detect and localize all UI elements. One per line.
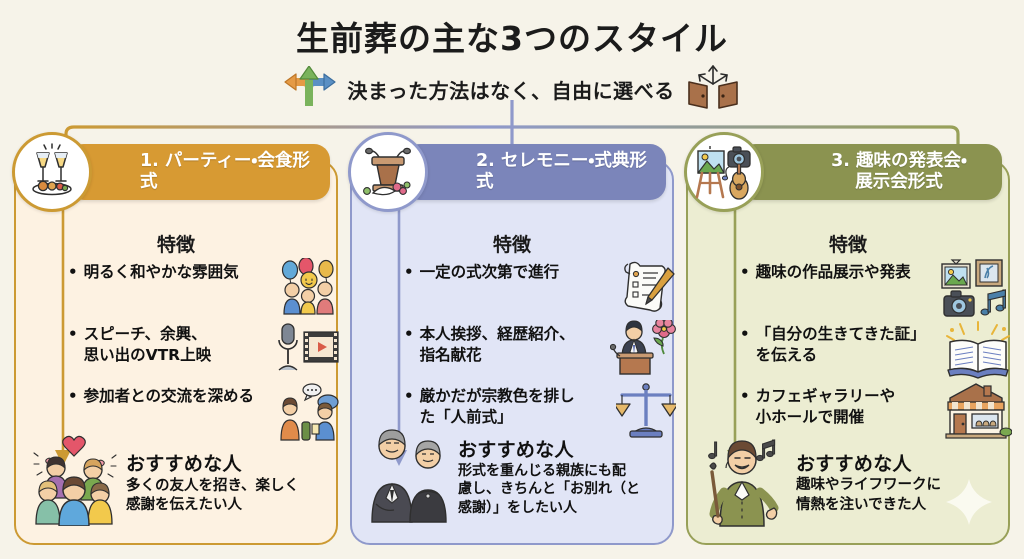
- artist-music-icon: [702, 432, 790, 532]
- recommend-heading: おすすめな人: [458, 435, 658, 462]
- easel-camera-guitar-icon: [684, 132, 764, 212]
- feature-item: • 本人挨拶、経歴紹介、 指名献花: [404, 324, 670, 386]
- card-party: 1. パーティー・会食形式: [14, 160, 338, 545]
- framed-pictures-camera-music-icon: [940, 258, 1012, 326]
- bullet-icon: •: [404, 324, 414, 344]
- card-ceremony-header: 2. セレモニー・式典形式: [404, 144, 666, 200]
- recommend-text: 多くの友人を招き、楽しく 感謝を伝えたい人: [126, 477, 322, 515]
- card-hobby-header: 3. 趣味の発表会・ 展示会形式: [740, 144, 1002, 200]
- card-party-header: 1. パーティー・会食形式: [68, 144, 330, 200]
- feature-item: • スピーチ、余興、 思い出のVTR上映: [68, 324, 334, 386]
- bullet-icon: •: [740, 324, 750, 344]
- bullet-icon: •: [68, 262, 78, 282]
- style-cards: 1. パーティー・会食形式: [0, 160, 1024, 559]
- speaker-podium-flower-icon: [610, 320, 676, 384]
- podium-flowers-icon: [348, 132, 428, 212]
- scroll-pen-icon: [618, 258, 676, 322]
- card-ceremony-recommend-body: おすすめな人 形式を重んじる親族にも配 慮し、きちんと「お別れ（と 感謝）」をし…: [458, 435, 658, 517]
- card-ceremony-recommend: おすすめな人 形式を重んじる親族にも配 慮し、きちんと「お別れ（と 感謝）」をし…: [360, 417, 664, 535]
- bullet-icon: •: [740, 262, 750, 282]
- bullet-icon: •: [68, 386, 78, 406]
- card-party-features-heading: 特徴: [16, 230, 336, 257]
- card-party-title: 1. パーティー・会食形式: [140, 151, 322, 192]
- infographic-page: 生前葬の主な3つのスタイル 決まった方法はなく、自由に選べる: [0, 0, 1024, 559]
- card-hobby-feature-list: • 趣味の作品展示や発表: [740, 262, 1006, 448]
- card-hobby-features-heading: 特徴: [688, 230, 1008, 257]
- card-ceremony: 2. セレモニー・式典形式: [350, 160, 674, 545]
- card-hobby-title: 3. 趣味の発表会・ 展示会形式: [831, 151, 967, 192]
- recommend-text: 形式を重んじる親族にも配 慮し、きちんと「お別れ（と 感謝）」をしたい人: [458, 462, 658, 517]
- family-balloons-icon: [278, 258, 340, 322]
- elderly-couple-icon: [366, 424, 452, 528]
- bullet-icon: •: [404, 262, 414, 282]
- feature-item: • 一定の式次第で進行: [404, 262, 670, 324]
- card-ceremony-title: 2. セレモニー・式典形式: [476, 151, 658, 192]
- champagne-toast-icon: [12, 132, 92, 212]
- sparkle-decoration-icon: [946, 479, 992, 529]
- page-title: 生前葬の主な3つのスタイル: [0, 12, 1024, 60]
- feature-item: • 明るく和やかな雰囲気: [68, 262, 334, 324]
- card-ceremony-features-heading: 特徴: [352, 230, 672, 257]
- card-party-recommend: おすすめな人 多くの友人を招き、楽しく 感謝を伝えたい人: [24, 429, 328, 535]
- recommend-heading: おすすめな人: [126, 449, 322, 476]
- feature-item: • 趣味の作品展示や発表: [740, 262, 1006, 324]
- friends-hearts-icon: [30, 434, 120, 530]
- recommend-heading: おすすめな人: [796, 449, 994, 476]
- open-book-sparkle-icon: [944, 320, 1012, 386]
- feature-item: • 「自分の生きてきた証」 を伝える: [740, 324, 1006, 386]
- card-party-recommend-body: おすすめな人 多くの友人を招き、楽しく 感謝を伝えたい人: [126, 449, 322, 515]
- card-party-feature-list: • 明るく和やかな雰囲気: [68, 262, 334, 448]
- bullet-icon: •: [740, 386, 750, 406]
- microphone-film-icon: [274, 320, 340, 382]
- card-hobby: 3. 趣味の発表会・ 展示会形式: [686, 160, 1010, 545]
- bullet-icon: •: [404, 386, 414, 406]
- bullet-icon: •: [68, 324, 78, 344]
